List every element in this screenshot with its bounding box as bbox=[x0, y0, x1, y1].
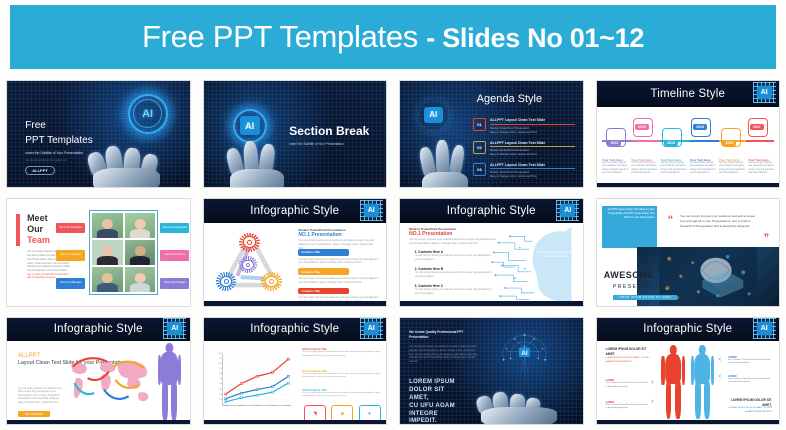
agenda-item: 01 ALLPPT Layout Clean Text Slide Modern… bbox=[473, 118, 575, 135]
timeline-year: 2026 bbox=[722, 140, 736, 146]
slide-catalog-page: Free PPT Templates - Slides No 01~12 AI bbox=[0, 0, 786, 430]
team-photo bbox=[125, 213, 156, 238]
right-item: LOREM Get a modern PowerPoint Presentati… bbox=[728, 375, 772, 385]
accent-bar bbox=[16, 214, 20, 246]
slide-title-bar: Infographic Style bbox=[7, 318, 190, 341]
slide-body: You can simply impress your audience and… bbox=[18, 388, 62, 405]
quote-block: “ You can simply impress your audience a… bbox=[662, 208, 773, 244]
slide-thumbnail-awesome[interactable]: ALLPPT Layout Clean Text Slide for your … bbox=[597, 199, 780, 305]
human-figure-red bbox=[659, 345, 688, 417]
slide-title-bar: Infographic Style bbox=[204, 318, 387, 341]
chevron-right-icon: › bbox=[651, 398, 653, 405]
slide-title: Section Break bbox=[289, 124, 369, 138]
robot-hand-icon bbox=[84, 136, 179, 187]
timeline-caption: Your Text Here You can simply impress yo… bbox=[631, 158, 658, 176]
human-figure-graphic bbox=[153, 343, 186, 420]
infographic-button[interactable]: INFOGRAPHIC bbox=[18, 411, 50, 417]
robot-hand-icon bbox=[473, 384, 575, 424]
team-tag: Name Text Preparation bbox=[56, 223, 85, 234]
slide-cell-02[interactable]: AI Section Break Insert the Subtitle of … bbox=[197, 75, 394, 193]
slide-title: Free PPT Templates bbox=[25, 119, 92, 148]
banner-title-primary: Free PPT Templates bbox=[142, 19, 418, 54]
chevron-left-icon: ‹ bbox=[719, 373, 721, 380]
team-photo bbox=[92, 240, 123, 265]
team-photo bbox=[125, 267, 156, 292]
chart-x-tick: Item 4 bbox=[270, 405, 276, 407]
slide-big-text: LOREM IPSUM DOLOR SIT AMET, CU UFU AGAM … bbox=[409, 379, 455, 424]
slide-cell-03[interactable]: AI Agenda Style 01 ALLPPT Layout Clean T… bbox=[393, 75, 590, 193]
chart-y-tick: 900 bbox=[219, 358, 222, 360]
slide-cell-06[interactable]: Infographic Style AI bbox=[197, 193, 394, 311]
slide-bottom-bar bbox=[204, 420, 387, 424]
chevron-right-icon: › bbox=[651, 379, 653, 386]
slide-title: Infographic Style bbox=[447, 205, 536, 217]
quote-text: You can simply impress your audience and… bbox=[680, 214, 760, 228]
slide-thumbnail-head-circuit[interactable]: Infographic Style AI Modern PowerPoint P… bbox=[400, 199, 583, 305]
chart-y-tick: 100 bbox=[219, 399, 222, 401]
slide-title: Infographic Style bbox=[643, 323, 732, 335]
slide-body: You can simply impress your audience and… bbox=[409, 346, 478, 364]
slide-thumbnail-brain-hand[interactable]: AI We Create Quality Professional PPT Pr… bbox=[400, 318, 583, 424]
chart-legend-item: Add Contents Title You can simply impres… bbox=[302, 388, 380, 399]
slide-bottom-bar bbox=[204, 301, 387, 305]
agenda-bullet: Easy to change colors, photos and Text bbox=[490, 153, 575, 157]
chart-y-tick: 800 bbox=[219, 363, 222, 365]
chart-y-tick: 600 bbox=[219, 373, 222, 375]
ai-chip-icon: AI bbox=[167, 322, 182, 335]
chart-y-tick: 400 bbox=[219, 383, 222, 385]
slide-cell-10[interactable]: Infographic Style AI 0100200300400500600… bbox=[197, 312, 394, 430]
agenda-number: 02 bbox=[473, 141, 486, 154]
slide-heading: We Create Quality Professional PPT Prese… bbox=[409, 330, 478, 339]
ai-chip-icon: AI bbox=[364, 322, 379, 335]
allppt-logo: ALLPPT bbox=[25, 166, 55, 175]
slide-title-bar: Infographic Style bbox=[597, 318, 780, 341]
agenda-bullet: Easy to change colors, photos and Text bbox=[490, 131, 575, 135]
content-column: Modern PowerPoint Presentation NO.1 Pres… bbox=[298, 228, 378, 250]
agenda-heading: ALLPPT Layout Clean Text Slide bbox=[490, 118, 575, 122]
timeline-year: 2025 bbox=[693, 124, 707, 130]
slide-title: Meet Our Team bbox=[27, 213, 50, 245]
team-tag: Name Text Manager bbox=[56, 278, 85, 289]
slide-subtitle: PRESENTATION bbox=[613, 284, 669, 290]
chart-y-tick: 300 bbox=[219, 389, 222, 391]
ai-chip-icon: AI bbox=[757, 322, 772, 335]
slide-thumbnail-bodies[interactable]: Infographic Style AI LOREM IPSUM DOLOR S… bbox=[597, 318, 780, 424]
page-banner: Free PPT Templates - Slides No 01~12 bbox=[10, 5, 776, 69]
team-photo bbox=[92, 213, 123, 238]
heading: NO.1 Presentation bbox=[298, 232, 378, 238]
timeline-caption: Your Text Here You can simply impress yo… bbox=[602, 158, 629, 176]
slide-thumbnail-section-break[interactable]: AI Section Break Insert the Subtitle of … bbox=[204, 81, 387, 187]
slide-subtitle: Insert the Subtitle of Your Presentation bbox=[289, 142, 343, 146]
timeline-year: 2027 bbox=[750, 124, 764, 130]
slide-thumbnail-agenda[interactable]: AI Agenda Style 01 ALLPPT Layout Clean T… bbox=[400, 81, 583, 187]
right-item: LOREM Get a modern PowerPoint Presentati… bbox=[728, 356, 772, 366]
chart-y-tick: 700 bbox=[219, 368, 222, 370]
team-tag: Name Text Designer bbox=[56, 250, 85, 261]
timeline-caption: Your Text Here You can simply impress yo… bbox=[690, 158, 717, 176]
chart-y-tick: 1000 bbox=[218, 353, 222, 355]
ai-halo-icon: AI bbox=[418, 100, 448, 130]
panel-text: ALLPPT Layout Clean Text Slide for your … bbox=[602, 208, 655, 219]
chart-y-tick: 500 bbox=[219, 378, 222, 380]
slide-badge: LOREM IPSUM DOLOR SIT AMET bbox=[613, 295, 677, 300]
left-item: LOREM Get a modern PowerPoint Presentati… bbox=[606, 401, 650, 411]
slide-thumbnail-title[interactable]: AI Free PPT Templates Insert the Subtitl… bbox=[7, 81, 190, 187]
slide-title: Infographic Style bbox=[250, 205, 339, 217]
slide-bottom-bar bbox=[400, 301, 583, 305]
line-chart: 01002003004005006007008009001000Item 1It… bbox=[213, 353, 293, 415]
slide-source: Your free download link from allppt.com bbox=[25, 159, 67, 162]
slide-subtitle: Insert the Subtitle of Your Presentation bbox=[25, 151, 83, 155]
chart-y-tick: 200 bbox=[219, 394, 222, 396]
slide-cell-11[interactable]: AI We Create Quality Professional PPT Pr… bbox=[393, 312, 590, 430]
slide-title-bar: Infographic Style bbox=[400, 199, 583, 222]
slide-title: AWESOME bbox=[604, 270, 655, 280]
timeline-year: 2023 bbox=[635, 124, 649, 130]
agenda-bullet: Easy to change colors, photos and Text bbox=[490, 175, 575, 179]
team-photo-frame bbox=[89, 210, 158, 295]
banner-title-secondary: - Slides No 01~12 bbox=[426, 23, 644, 53]
team-photo bbox=[92, 267, 123, 292]
slide-cell-07[interactable]: Infographic Style AI Modern PowerPoint P… bbox=[393, 193, 590, 311]
slide-thumbnail-chart[interactable]: Infographic Style AI 0100200300400500600… bbox=[204, 318, 387, 424]
brain-network-graphic: AI bbox=[477, 328, 572, 383]
chart-legend-item: Add Contents Title You can simply impres… bbox=[302, 347, 380, 358]
content-pill[interactable]: Contents Title bbox=[298, 268, 349, 274]
team-tag: Name Here Director bbox=[160, 250, 189, 261]
slide-grid: AI Free PPT Templates Insert the Subtitl… bbox=[0, 75, 786, 430]
slide-title-bar: Infographic Style bbox=[204, 199, 387, 222]
content-pill[interactable]: Contents Title bbox=[298, 288, 349, 294]
slide-thumbnail-map[interactable]: Infographic Style AI ALLPPT Layout Clean… bbox=[7, 318, 190, 424]
chevron-left-icon: ‹ bbox=[719, 356, 721, 363]
circuit-head-graphic: ALLPPT Layout Clean Text Slide for your … bbox=[480, 225, 582, 306]
slide-cell-04[interactable]: Timeline Style AI 2022 2023 bbox=[590, 75, 786, 193]
chart-x-tick: Item 2 bbox=[239, 405, 245, 407]
world-map-graphic bbox=[58, 345, 157, 419]
slide-bottom-bar bbox=[597, 420, 780, 424]
left-item: LOREM Get a modern PowerPoint Presentati… bbox=[606, 379, 650, 389]
agenda-item: 02 ALLPPT Layout Clean Text Slide Modern… bbox=[473, 141, 575, 158]
timeline-caption: Your Text Here You can simply impress yo… bbox=[719, 158, 746, 176]
agenda-number: 03 bbox=[473, 163, 486, 176]
slide-bottom-bar bbox=[597, 183, 780, 187]
slide-title: Timeline Style bbox=[650, 88, 725, 100]
team-tag: Name Here Manager bbox=[160, 278, 189, 289]
banner-title: Free PPT Templates - Slides No 01~12 bbox=[142, 19, 644, 55]
ai-chip-icon: AI bbox=[560, 204, 575, 217]
accent-panel: ALLPPT Layout Clean Text Slide for your … bbox=[602, 206, 657, 249]
left-heading: LOREM IPSUM DOLOR SIT AMET, LOREM IPSUM … bbox=[606, 347, 653, 364]
slide-title-bar: Timeline Style bbox=[597, 81, 780, 107]
slide-thumbnail-team[interactable]: Meet Our Team You can simply impress you… bbox=[7, 199, 190, 305]
timeline-year: 2024 bbox=[664, 140, 678, 146]
gear-triangle-graphic bbox=[214, 231, 287, 297]
right-heading: LOREM IPSUM DOLOR SIT AMET, LOREM IPSUM … bbox=[724, 398, 771, 414]
content-body: You can simply impress your audience and… bbox=[298, 277, 378, 284]
agenda-number: 01 bbox=[473, 118, 486, 131]
robot-hand-icon bbox=[413, 132, 482, 187]
overlay-text: ALLPPT Layout Clean Text Slide for your … bbox=[536, 251, 577, 260]
slide-cell-09[interactable]: Infographic Style AI ALLPPT Layout Clean… bbox=[0, 312, 197, 430]
timeline-caption: Your Text Here You can simply impress yo… bbox=[660, 158, 687, 176]
chart-legend-item: Add Contents Title You can simply impres… bbox=[302, 369, 380, 380]
slide-bottom-bar bbox=[7, 420, 190, 424]
slide-cell-01[interactable]: AI Free PPT Templates Insert the Subtitl… bbox=[0, 75, 197, 193]
quote-close-icon: ” bbox=[764, 235, 770, 242]
svg-text:AI: AI bbox=[521, 350, 527, 357]
ai-chip-icon: AI bbox=[757, 86, 772, 99]
slide-title: Infographic Style bbox=[54, 323, 143, 335]
team-photo bbox=[125, 240, 156, 265]
content-body: You can simply impress your audience and… bbox=[298, 258, 378, 265]
slide-title: Agenda Style bbox=[477, 93, 542, 105]
ai-halo-icon: AI bbox=[128, 94, 168, 134]
agenda-heading: ALLPPT Layout Clean Text Slide bbox=[490, 163, 575, 167]
agenda-item: 03 ALLPPT Layout Clean Text Slide Modern… bbox=[473, 163, 575, 180]
slide-cell-05[interactable]: Meet Our Team You can simply impress you… bbox=[0, 193, 197, 311]
content-pill[interactable]: Contents Title bbox=[298, 249, 349, 255]
ai-chip-icon: AI bbox=[364, 204, 379, 217]
slide-thumbnail-timeline[interactable]: Timeline Style AI 2022 2023 bbox=[597, 81, 780, 187]
robot-hand-icon bbox=[220, 132, 300, 187]
agenda-heading: ALLPPT Layout Clean Text Slide bbox=[490, 141, 575, 145]
slide-cell-12[interactable]: Infographic Style AI LOREM IPSUM DOLOR S… bbox=[590, 312, 786, 430]
team-tag: Name Here Preparation bbox=[160, 223, 189, 234]
timeline-year: 2022 bbox=[607, 140, 621, 146]
human-figure-blue bbox=[688, 345, 717, 417]
chart-plot-area: 01002003004005006007008009001000Item 1It… bbox=[222, 354, 291, 406]
slide-title: Infographic Style bbox=[250, 323, 339, 335]
chart-x-tick: Item 1 bbox=[223, 405, 229, 407]
slide-cell-08[interactable]: ALLPPT Layout Clean Text Slide for your … bbox=[590, 193, 786, 311]
timeline: 2022 2023 2024 2025 2026 2027 Your Text … bbox=[597, 113, 780, 181]
timeline-caption: Your Text Here You can simply impress yo… bbox=[748, 158, 775, 176]
slide-thumbnail-gears[interactable]: Infographic Style AI bbox=[204, 199, 387, 305]
quote-open-icon: “ bbox=[668, 217, 674, 224]
chart-x-tick: Item 5 bbox=[286, 405, 292, 407]
chart-x-tick: Item 3 bbox=[255, 405, 261, 407]
